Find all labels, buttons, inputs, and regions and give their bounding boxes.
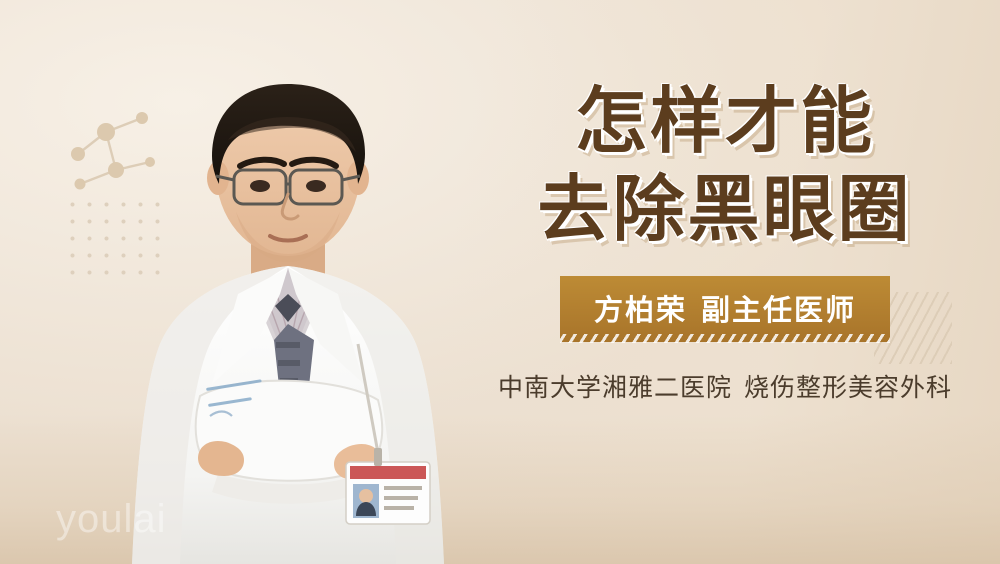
doctor-portrait [88, 44, 488, 564]
band-fringe-decoration [560, 334, 890, 343]
speaker-name-band: 方柏荣副主任医师 [560, 276, 890, 342]
speaker-name: 方柏荣 [594, 293, 687, 327]
affiliation-line: 中南大学湘雅二医院烧伤整形美容外科 [470, 368, 980, 404]
thumbnail-image: 怎样才能 去除黑眼圈 方柏荣副主任医师 中南大学湘雅二医院烧伤整形美容外科 yo… [0, 0, 1000, 564]
speaker-title: 副主任医师 [701, 293, 856, 327]
headline-line-2: 去除黑眼圈 [470, 166, 980, 254]
headline-line-1: 怎样才能 [470, 78, 980, 166]
affiliation-hospital: 中南大学湘雅二医院 [498, 373, 732, 402]
affiliation-department: 烧伤整形美容外科 [744, 373, 952, 402]
text-block: 怎样才能 去除黑眼圈 方柏荣副主任医师 中南大学湘雅二医院烧伤整形美容外科 [470, 78, 980, 404]
watermark-text: youlai [56, 497, 167, 542]
